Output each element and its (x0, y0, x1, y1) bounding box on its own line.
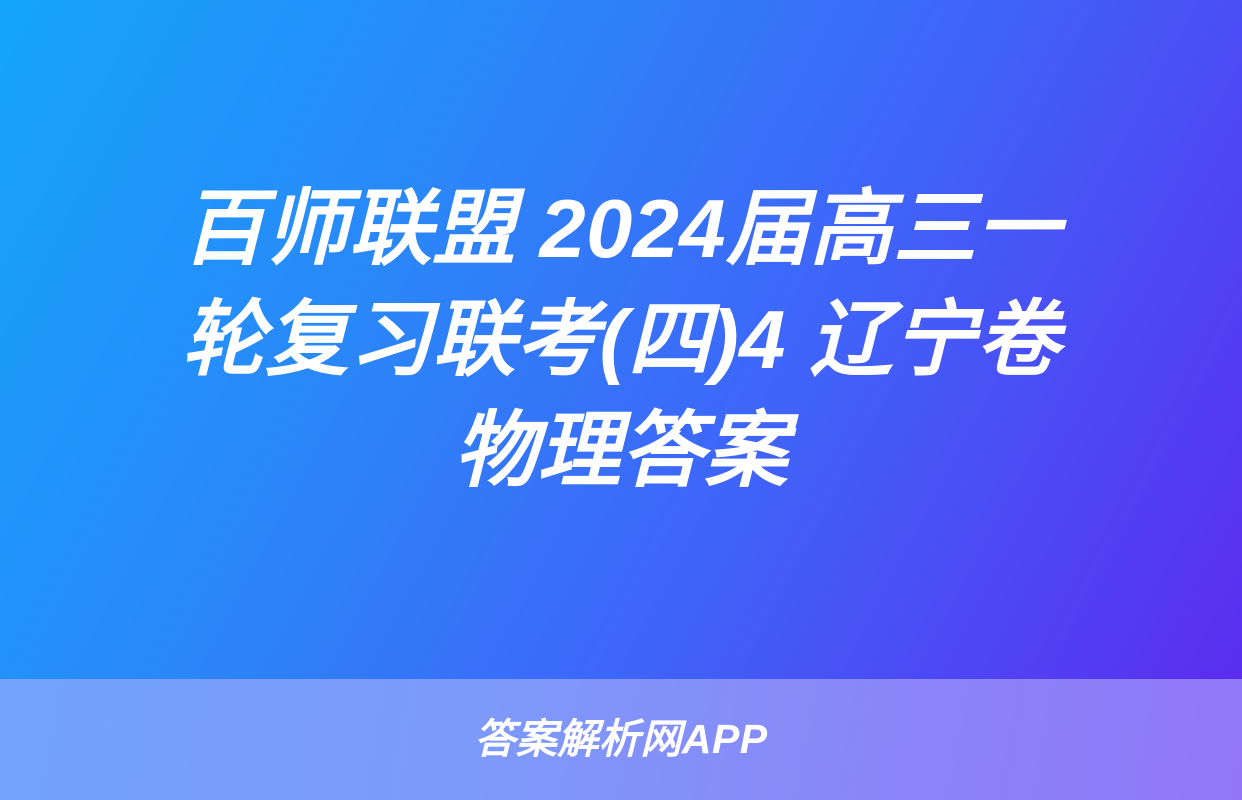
page-title: 百师联盟 2024届高三一 轮复习联考(四)4 辽宁卷 物理答案 (22, 173, 1220, 507)
hero-gradient-panel: 百师联盟 2024届高三一 轮复习联考(四)4 辽宁卷 物理答案 (0, 0, 1242, 679)
answer-banner: 百师联盟 2024届高三一 轮复习联考(四)4 辽宁卷 物理答案 答案解析网AP… (0, 0, 1242, 800)
watermark-text: 答案解析网APP (474, 719, 767, 760)
footer-watermark-band: 答案解析网APP (0, 679, 1242, 800)
